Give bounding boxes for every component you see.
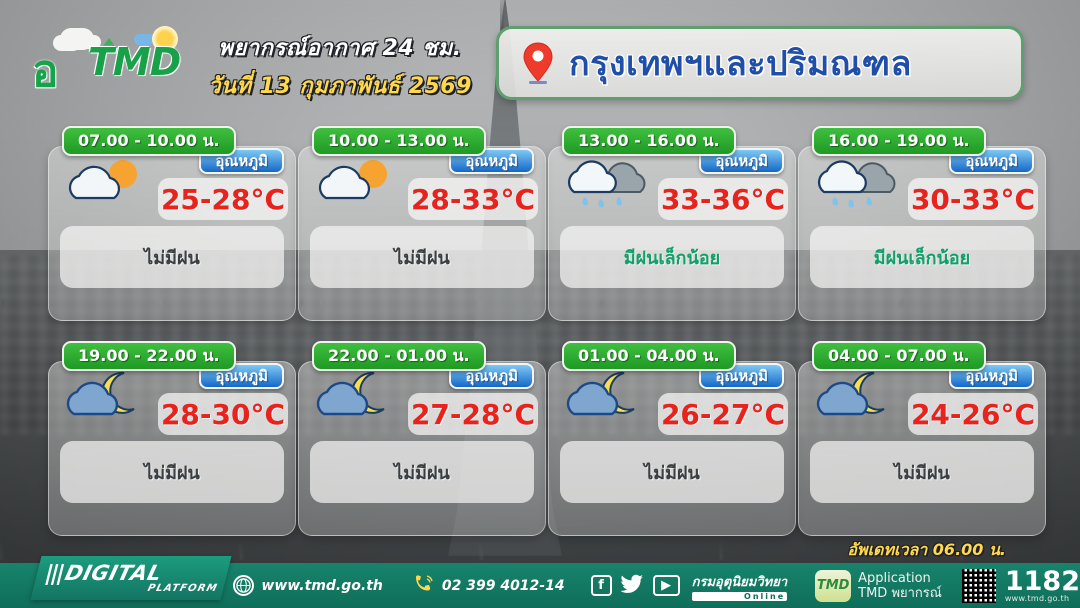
tmd-logo: อ TMD xyxy=(30,22,180,84)
temperature-value-box: 28-33°C xyxy=(408,178,538,220)
moon-behind-cloud-icon xyxy=(316,367,398,427)
digital-word: DIGITAL xyxy=(63,561,165,585)
page-title: พยากรณ์อากาศ 24 ชม. xyxy=(205,30,475,65)
time-range-label: 13.00 - 16.00 น. xyxy=(578,129,720,154)
website-label: www.tmd.go.th xyxy=(261,578,382,594)
rain-status-label: ไม่มีฝน xyxy=(394,243,450,272)
forecast-card: 10.00 - 13.00 น. อุณหภูมิ 28-33°C ไม่มีฝ… xyxy=(298,126,546,321)
phone-label: 02 399 4012-14 xyxy=(442,578,565,594)
time-range-label: 19.00 - 22.00 น. xyxy=(78,344,220,369)
temperature-value: 28-30°C xyxy=(161,398,285,431)
time-range-badge: 16.00 - 19.00 น. xyxy=(812,126,986,156)
rain-status-box: ไม่มีฝน xyxy=(60,441,284,503)
temperature-value-box: 27-28°C xyxy=(408,393,538,435)
temperature-value: 24-26°C xyxy=(911,398,1035,431)
digital-bars-icon: ||| xyxy=(43,563,65,583)
forecast-card: 04.00 - 07.00 น. อุณหภูมิ 24-26°C ไม่มีฝ… xyxy=(798,341,1046,536)
moon-behind-cloud-icon xyxy=(566,367,648,427)
rain-status-box: ไม่มีฝน xyxy=(560,441,784,503)
digital-platform-line-2: PLATFORM xyxy=(40,583,233,595)
time-range-badge: 04.00 - 07.00 น. xyxy=(812,341,986,371)
rain-status-box: ไม่มีฝน xyxy=(60,226,284,288)
region-title: กรุงเทพฯและปริมณฑล xyxy=(569,36,912,90)
phone-icon xyxy=(413,574,435,598)
temperature-value: 25-28°C xyxy=(161,183,285,216)
sun-behind-cloud-icon xyxy=(316,152,398,212)
digital-platform-logo: |||DIGITAL PLATFORM xyxy=(39,558,239,600)
rain-status-label: ไม่มีฝน xyxy=(644,458,700,487)
temperature-value-box: 28-30°C xyxy=(158,393,288,435)
phone-item[interactable]: 02 399 4012-14 xyxy=(413,574,565,598)
rain-status-box: มีฝนเล็กน้อย xyxy=(810,226,1034,288)
forecast-date: วันที่ 13 กุมภาพันธ์ 2569 xyxy=(205,68,475,103)
social-links[interactable]: f ▶ กรมอุตุนิยมวิทยา Online xyxy=(591,571,788,601)
youtube-icon[interactable]: ▶ xyxy=(653,575,680,596)
forecast-card: 16.00 - 19.00 น. อุณหภูมิ 30-33°C มีฝนเล… xyxy=(798,126,1046,321)
update-time-label: อัพเดทเวลา 06.00 น. xyxy=(847,538,1006,563)
social-label: กรมอุตุนิยมวิทยา xyxy=(692,571,788,592)
rain-status-box: ไม่มีฝน xyxy=(310,441,534,503)
forecast-grid: 07.00 - 10.00 น. อุณหภูมิ 25-28°C ไม่มีฝ… xyxy=(0,126,1080,546)
rain-status-label: ไม่มีฝน xyxy=(144,243,200,272)
twitter-icon[interactable] xyxy=(621,574,644,598)
temperature-value: 30-33°C xyxy=(911,183,1035,216)
rain-status-label: ไม่มีฝน xyxy=(394,458,450,487)
forecast-card: 19.00 - 22.00 น. อุณหภูมิ 28-30°C ไม่มีฝ… xyxy=(48,341,296,536)
moon-behind-cloud-icon xyxy=(66,367,148,427)
time-range-badge: 10.00 - 13.00 น. xyxy=(312,126,486,156)
app-line-2: TMD พยากรณ์ xyxy=(858,586,942,601)
tmd-logo-thai-glyph: อ xyxy=(32,36,56,106)
app-line-1: Application xyxy=(858,571,942,586)
temperature-value-box: 25-28°C xyxy=(158,178,288,220)
qr-code-icon[interactable] xyxy=(962,569,996,603)
globe-icon xyxy=(233,575,254,596)
digital-platform-line-1: |||DIGITAL xyxy=(43,563,238,583)
time-range-label: 10.00 - 13.00 น. xyxy=(328,129,470,154)
location-pin-icon xyxy=(521,41,555,85)
forecast-card: 01.00 - 04.00 น. อุณหภูมิ 26-27°C ไม่มีฝ… xyxy=(548,341,796,536)
rain-status-box: มีฝนเล็กน้อย xyxy=(560,226,784,288)
region-panel: กรุงเทพฯและปริมณฑล xyxy=(496,26,1024,100)
rain-status-label: มีฝนเล็กน้อย xyxy=(624,243,720,272)
hotline-website: www.tmd.go.th xyxy=(1005,594,1080,603)
website-item[interactable]: www.tmd.go.th xyxy=(233,575,382,596)
time-range-label: 01.00 - 04.00 น. xyxy=(578,344,720,369)
tmd-logo-wordmark: TMD xyxy=(88,40,180,84)
time-range-badge: 13.00 - 16.00 น. xyxy=(562,126,736,156)
hotline-item[interactable]: 1182 www.tmd.go.th xyxy=(962,569,1080,603)
tmd-app-icon: TMD xyxy=(815,570,851,602)
app-promo[interactable]: TMD Application TMD พยากรณ์ xyxy=(815,570,942,602)
temperature-value: 28-33°C xyxy=(411,183,535,216)
temperature-value: 26-27°C xyxy=(661,398,785,431)
forecast-card: 22.00 - 01.00 น. อุณหภูมิ 27-28°C ไม่มีฝ… xyxy=(298,341,546,536)
time-range-badge: 01.00 - 04.00 น. xyxy=(562,341,736,371)
sun-behind-cloud-icon xyxy=(66,152,148,212)
moon-behind-cloud-icon xyxy=(816,367,898,427)
rain-status-box: ไม่มีฝน xyxy=(810,441,1034,503)
time-range-badge: 19.00 - 22.00 น. xyxy=(62,341,236,371)
temperature-value-box: 30-33°C xyxy=(908,178,1038,220)
rain-status-box: ไม่มีฝน xyxy=(310,226,534,288)
temperature-value-box: 26-27°C xyxy=(658,393,788,435)
time-range-label: 04.00 - 07.00 น. xyxy=(828,344,970,369)
rain-cloud-icon xyxy=(566,152,648,212)
time-range-badge: 07.00 - 10.00 น. xyxy=(62,126,236,156)
social-sub-label: Online xyxy=(692,592,788,601)
time-range-label: 07.00 - 10.00 น. xyxy=(78,129,220,154)
hotline-number: 1182 xyxy=(1005,569,1080,594)
facebook-icon[interactable]: f xyxy=(591,575,612,596)
forecast-card: 13.00 - 16.00 น. อุณหภูมิ 33-36°C มีฝนเล… xyxy=(548,126,796,321)
temperature-value: 33-36°C xyxy=(661,183,785,216)
temperature-value-box: 24-26°C xyxy=(908,393,1038,435)
temperature-value: 27-28°C xyxy=(411,398,535,431)
time-range-label: 22.00 - 01.00 น. xyxy=(328,344,470,369)
rain-status-label: ไม่มีฝน xyxy=(144,458,200,487)
rain-status-label: มีฝนเล็กน้อย xyxy=(874,243,970,272)
time-range-badge: 22.00 - 01.00 น. xyxy=(312,341,486,371)
time-range-label: 16.00 - 19.00 น. xyxy=(828,129,970,154)
forecast-card: 07.00 - 10.00 น. อุณหภูมิ 25-28°C ไม่มีฝ… xyxy=(48,126,296,321)
temperature-value-box: 33-36°C xyxy=(658,178,788,220)
rain-cloud-icon xyxy=(816,152,898,212)
rain-status-label: ไม่มีฝน xyxy=(894,458,950,487)
